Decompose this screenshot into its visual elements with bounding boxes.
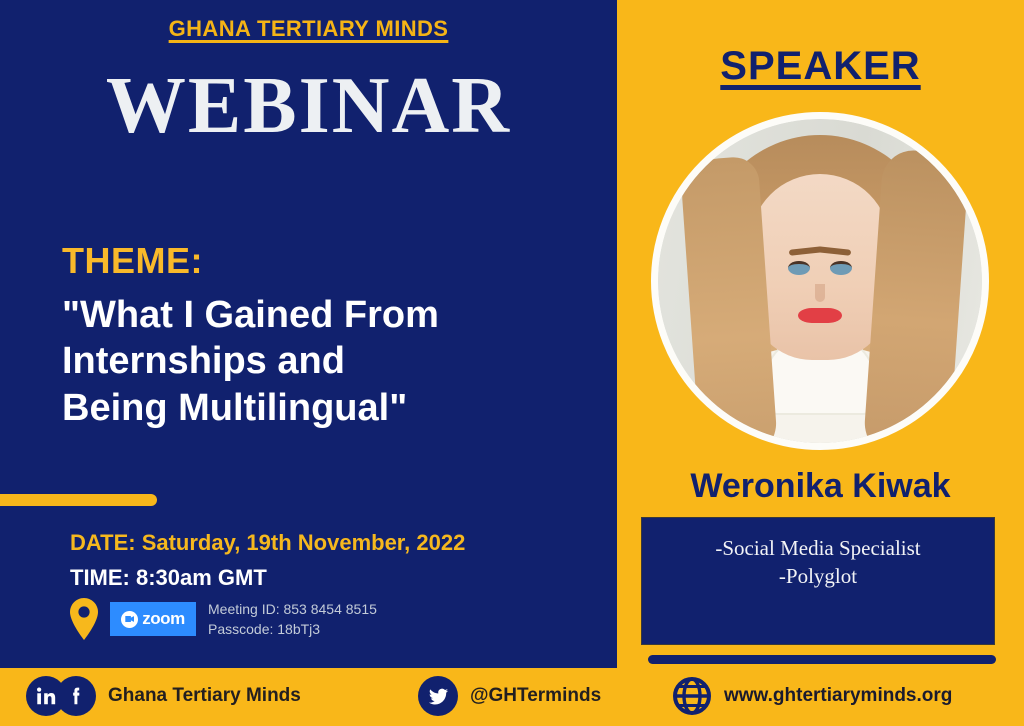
meeting-details: zoom Meeting ID: 853 8454 8515 Passcode:… — [70, 598, 377, 640]
speaker-photo — [651, 112, 989, 450]
theme-line-1: "What I Gained From — [62, 292, 602, 338]
theme-text: "What I Gained From Internships and Bein… — [62, 292, 602, 431]
webinar-flyer: GHANA TERTIARY MINDS WEBINAR THEME: "Wha… — [0, 0, 1024, 726]
speaker-role-1: -Social Media Specialist — [642, 534, 994, 562]
speaker-underline-bar — [648, 655, 996, 664]
organization-name: GHANA TERTIARY MINDS — [0, 16, 617, 42]
speaker-role-2: -Polyglot — [642, 562, 994, 590]
globe-icon[interactable] — [672, 676, 712, 716]
video-camera-icon — [121, 611, 138, 628]
facebook-icon[interactable] — [56, 676, 96, 716]
speaker-info-box: -Social Media Specialist -Polyglot — [641, 517, 995, 645]
speaker-name: Weronika Kiwak — [617, 467, 1024, 506]
map-pin-icon — [70, 598, 98, 640]
event-date: DATE: Saturday, 19th November, 2022 — [70, 530, 465, 556]
footer-twitter-label: @GHTerminds — [470, 685, 601, 707]
event-time: TIME: 8:30am GMT — [70, 565, 267, 591]
accent-bar — [0, 494, 157, 506]
twitter-icon[interactable] — [418, 676, 458, 716]
footer-item-twitter[interactable]: @GHTerminds — [418, 676, 601, 716]
meeting-id: Meeting ID: 853 8454 8515 — [208, 599, 377, 619]
footer-website-label: www.ghtertiaryminds.org — [724, 685, 952, 707]
footer-item-website[interactable]: www.ghtertiaryminds.org — [672, 676, 952, 716]
theme-label: THEME: — [62, 240, 203, 282]
theme-line-3: Being Multilingual" — [62, 385, 602, 431]
footer-social-label: Ghana Tertiary Minds — [108, 685, 301, 707]
footer-item-social-pages[interactable]: Ghana Tertiary Minds — [26, 676, 301, 716]
theme-line-2: Internships and — [62, 338, 602, 384]
zoom-logo: zoom — [110, 602, 196, 636]
meeting-credentials: Meeting ID: 853 8454 8515 Passcode: 18bT… — [208, 599, 377, 640]
left-panel: GHANA TERTIARY MINDS WEBINAR THEME: "Wha… — [0, 0, 617, 668]
speaker-portrait-image — [658, 119, 982, 443]
page-title: WEBINAR — [0, 66, 617, 146]
meeting-passcode: Passcode: 18bTj3 — [208, 619, 377, 639]
footer-bar: Ghana Tertiary Minds @GHTerminds www — [0, 668, 1024, 726]
zoom-wordmark: zoom — [142, 609, 184, 629]
speaker-heading: SPEAKER — [617, 44, 1024, 89]
